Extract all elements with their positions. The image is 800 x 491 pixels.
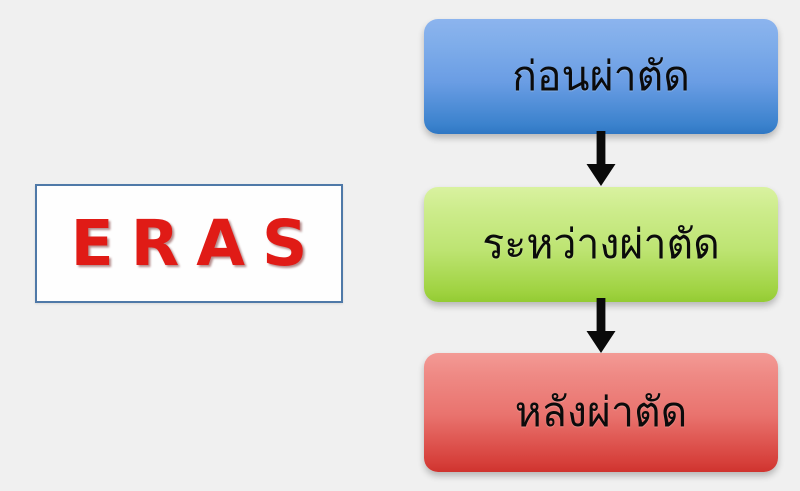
eras-title: ERAS <box>54 212 325 275</box>
flow-box-post-op[interactable]: หลังผ่าตัด <box>424 353 778 472</box>
eras-logo-panel: ERAS <box>35 184 343 303</box>
arrow-down-icon-intra-to-post <box>584 298 618 354</box>
flow-box-post-op-label: หลังผ่าตัด <box>515 389 687 436</box>
surgery-phase-flow-diagram: ก่อนผ่าตัด ระหว่างผ่าตัด หลังผ่าตัด <box>424 19 778 474</box>
flow-box-pre-op-label: ก่อนผ่าตัด <box>512 53 690 100</box>
flow-box-intra-op-label: ระหว่างผ่าตัด <box>482 221 719 268</box>
flow-box-intra-op[interactable]: ระหว่างผ่าตัด <box>424 187 778 302</box>
flow-box-pre-op[interactable]: ก่อนผ่าตัด <box>424 19 778 134</box>
arrow-down-icon-pre-to-intra <box>584 131 618 187</box>
